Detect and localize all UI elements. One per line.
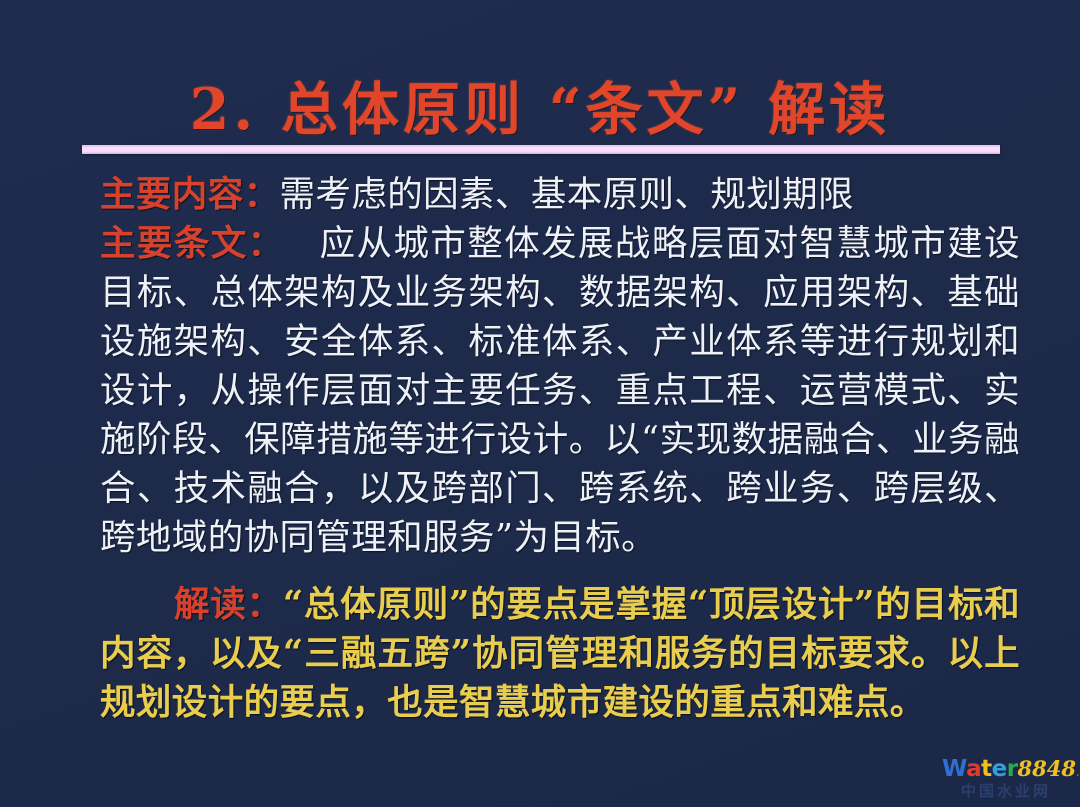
main-clause-label: 主要条文： <box>100 223 285 264</box>
site-watermark: Water8848.com 中国水业网 <box>942 758 1070 799</box>
main-content-paragraph: 主要内容：需考虑的因素、基本原则、规划期限 <box>100 170 1020 219</box>
interpretation-label: 解读： <box>174 584 283 625</box>
main-content-text: 需考虑的因素、基本原则、规划期限 <box>280 174 854 215</box>
interpretation-block: 解读：“总体原则”的要点是掌握“顶层设计”的目标和内容，以及“三融五跨”协同管理… <box>100 580 1020 727</box>
main-content-label: 主要内容： <box>100 174 280 215</box>
watermark-letter-w: W <box>942 756 966 782</box>
watermark-subtitle: 中国水业网 <box>942 784 1070 799</box>
title-divider <box>82 145 1000 154</box>
slide-title-row: 2. 总体原则 “条文” 解读 <box>0 42 1080 178</box>
watermark-letter-t: t <box>981 756 992 782</box>
main-clause-text: 应从城市整体发展战略层面对智慧城市建设目标、总体架构及业务架构、数据架构、应用架… <box>100 223 1020 558</box>
interpretation-paragraph: 解读：“总体原则”的要点是掌握“顶层设计”的目标和内容，以及“三融五跨”协同管理… <box>100 580 1020 727</box>
watermark-brand: Water8848.com <box>942 758 1070 781</box>
watermark-tld: .com <box>1076 769 1080 779</box>
slide-canvas: 2. 总体原则 “条文” 解读 主要内容：需考虑的因素、基本原则、规划期限 主要… <box>0 0 1080 807</box>
main-clause-paragraph: 主要条文：应从城市整体发展战略层面对智慧城市建设目标、总体架构及业务架构、数据架… <box>100 219 1020 562</box>
page-title: 2. 总体原则 “条文” 解读 <box>190 80 891 140</box>
watermark-letter-r: r <box>1007 756 1018 782</box>
body-content: 主要内容：需考虑的因素、基本原则、规划期限 主要条文：应从城市整体发展战略层面对… <box>100 170 1020 562</box>
watermark-number: 8848 <box>1018 756 1076 781</box>
watermark-letter-a: a <box>966 756 981 782</box>
watermark-letter-e: e <box>992 756 1007 782</box>
